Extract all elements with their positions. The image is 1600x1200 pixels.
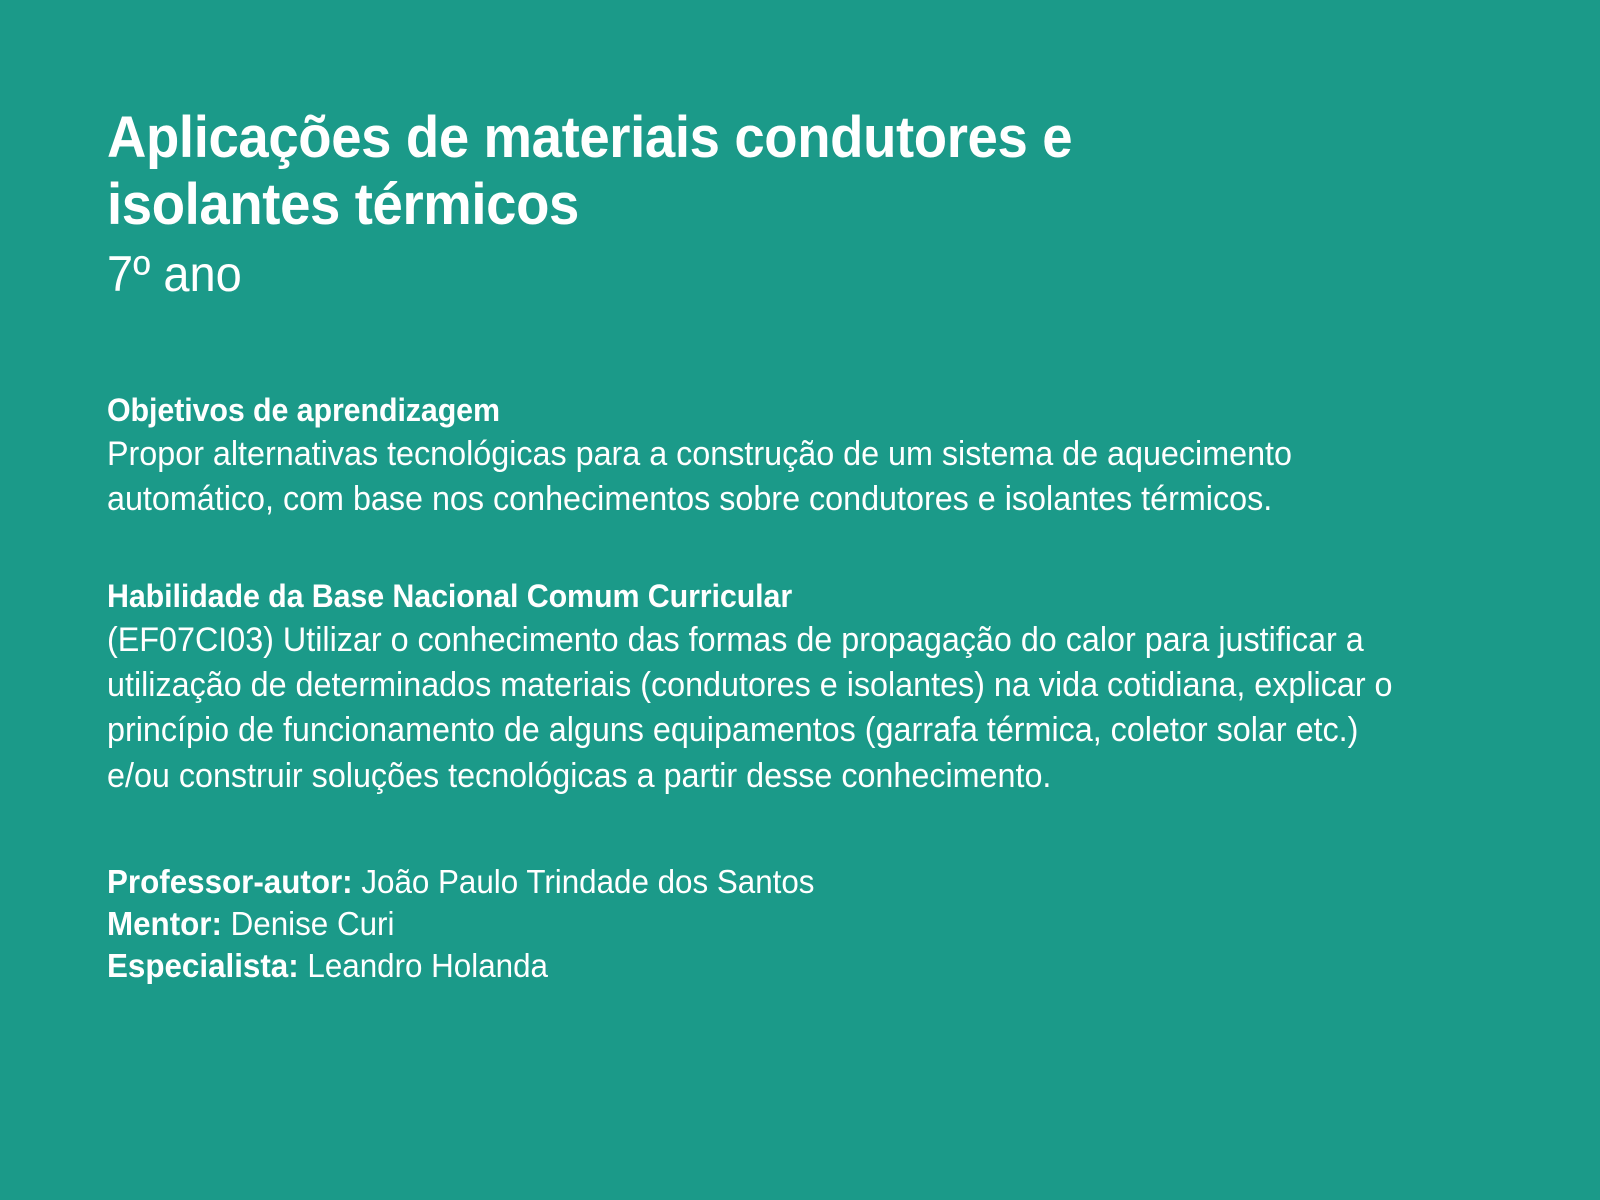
section-bncc-skill: Habilidade da Base Nacional Comum Curric… [107, 576, 1482, 799]
bncc-skill-heading: Habilidade da Base Nacional Comum Curric… [107, 576, 1413, 616]
credit-line: Mentor: Denise Curi [107, 903, 1413, 945]
credit-person-name: Leandro Holanda [307, 947, 548, 984]
grade-level-subtitle: 7º ano [107, 245, 1400, 304]
credits-block: Professor-autor: João Paulo Trindade dos… [107, 861, 1482, 988]
learning-objectives-body: Propor alternativas tecnológicas para a … [107, 432, 1413, 522]
credit-person-name: João Paulo Trindade dos Santos [361, 863, 814, 900]
credit-line: Professor-autor: João Paulo Trindade dos… [107, 861, 1413, 903]
credit-line: Especialista: Leandro Holanda [107, 945, 1413, 987]
section-learning-objectives: Objetivos de aprendizagem Propor alterna… [107, 390, 1482, 522]
learning-objectives-heading: Objetivos de aprendizagem [107, 390, 1413, 430]
credit-person-name: Denise Curi [231, 905, 395, 942]
bncc-skill-body: (EF07CI03) Utilizar o conhecimento das f… [107, 618, 1413, 799]
credit-role-label: Professor-autor: [107, 863, 353, 900]
credit-role-label: Mentor: [107, 905, 222, 942]
credit-role-label: Especialista: [107, 947, 299, 984]
lesson-plan-slide: Aplicações de materiais condutores e iso… [0, 0, 1600, 1200]
slide-content: Aplicações de materiais condutores e iso… [107, 104, 1482, 988]
page-title: Aplicações de materiais condutores e iso… [107, 104, 1282, 239]
